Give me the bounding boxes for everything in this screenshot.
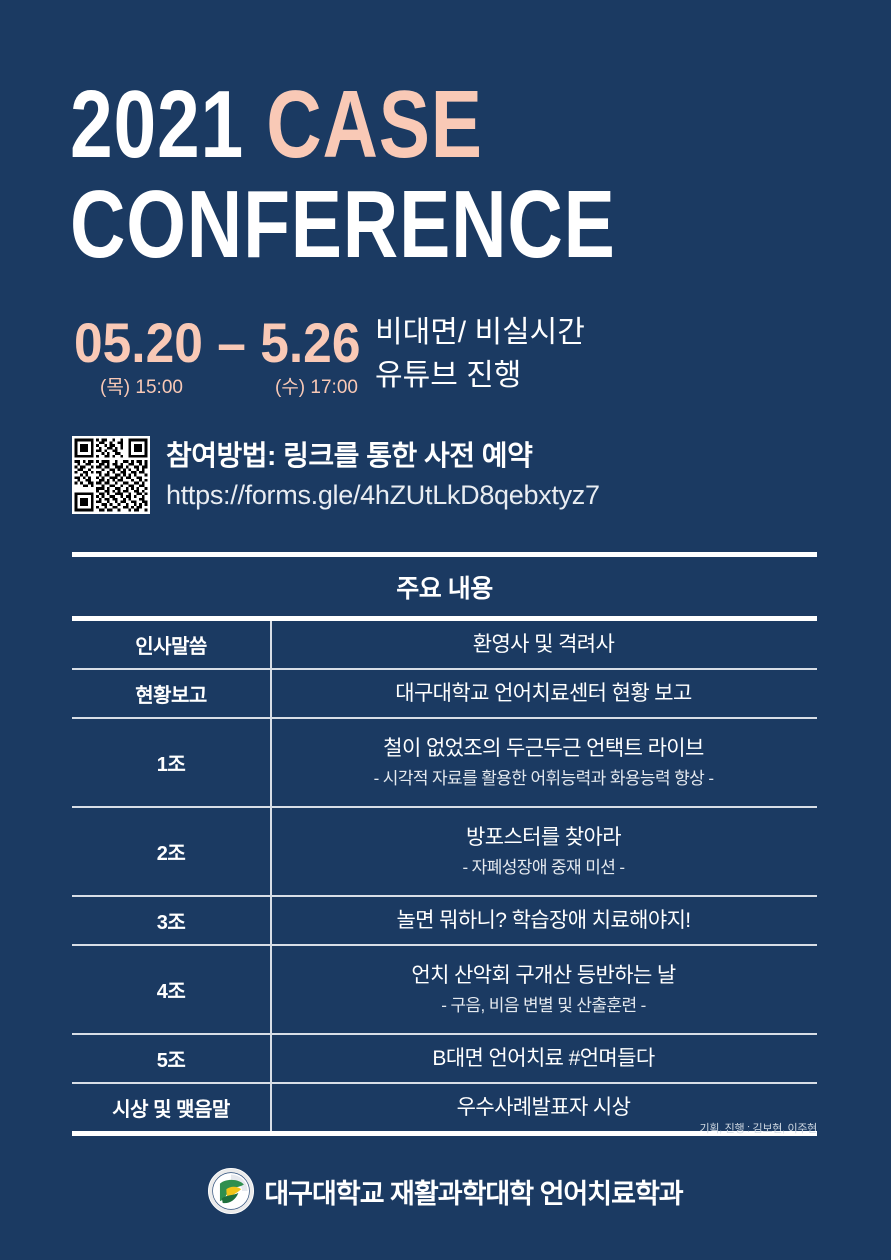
footer: 대구대학교 재활과학대학 언어치료학과: [0, 1168, 891, 1214]
credit-line: 기획, 진행 : 김보현, 이주현: [0, 1120, 817, 1136]
row-content: B대면 언어치료 #언며들다: [270, 1035, 817, 1082]
row-label: 현황보고: [72, 670, 270, 717]
row-main-text: 언치 산악회 구개산 등반하는 날: [411, 962, 675, 989]
row-label: 인사말씀: [72, 621, 270, 668]
row-label: 3조: [72, 897, 270, 944]
row-main-text: 우수사례발표자 시상: [457, 1094, 631, 1121]
title-year: 2021: [70, 71, 266, 178]
row-main-text: B대면 언어치료 #언며들다: [432, 1045, 654, 1072]
row-label: 5조: [72, 1035, 270, 1082]
title-case: CASE: [266, 71, 483, 178]
row-label: 4조: [72, 946, 270, 1033]
mode-line-2: 유튜브 진행: [375, 355, 585, 398]
delivery-mode: 비대면/ 비실시간 유튜브 진행: [375, 312, 585, 397]
mode-line-1: 비대면/ 비실시간: [375, 312, 585, 355]
row-main-text: 대구대학교 언어치료센터 현황 보고: [395, 680, 692, 707]
row-main-text: 환영사 및 격려사: [473, 631, 615, 658]
registration-url[interactable]: https://forms.gle/4hZUtLkD8qebxtyz7: [166, 480, 600, 511]
row-sub-text: - 구음, 비음 변별 및 산출훈련 -: [441, 995, 645, 1017]
row-label: 2조: [72, 808, 270, 895]
table-row: 인사말씀 환영사 및 격려사: [72, 621, 817, 668]
title-line-2: CONFERENCE: [70, 178, 678, 272]
table-row: 1조 철이 없었조의 두근두근 언택트 라이브 - 시각적 자료를 활용한 어휘…: [72, 719, 817, 806]
column-divider: [270, 808, 272, 895]
footer-organization: 대구대학교 재활과학대학 언어치료학과: [264, 1172, 682, 1211]
column-divider: [270, 897, 272, 944]
row-content: 환영사 및 격려사: [270, 621, 817, 668]
participation-headline: 참여방법: 링크를 통한 사전 예약: [166, 434, 600, 474]
column-divider: [270, 946, 272, 1033]
table-row: 3조 놀면 뭐하니? 학습장애 치료해야지!: [72, 897, 817, 944]
table-row: 4조 언치 산악회 구개산 등반하는 날 - 구음, 비음 변별 및 산출훈련 …: [72, 946, 817, 1033]
table-row: 2조 방포스터를 찾아라 - 자폐성장애 중재 미션 -: [72, 808, 817, 895]
row-content: 방포스터를 찾아라 - 자폐성장애 중재 미션 -: [270, 808, 817, 895]
row-label: 1조: [72, 719, 270, 806]
table-title: 주요 내용: [72, 557, 817, 616]
title-line-1: 2021 CASE: [70, 78, 678, 172]
participation-section: 참여방법: 링크를 통한 사전 예약 https://forms.gle/4hZ…: [70, 432, 850, 524]
row-main-text: 철이 없었조의 두근두근 언택트 라이브: [383, 735, 703, 762]
row-content: 대구대학교 언어치료센터 현황 보고: [270, 670, 817, 717]
row-main-text: 방포스터를 찾아라: [466, 824, 621, 851]
schedule-table: 주요 내용 인사말씀 환영사 및 격려사 현황보고 대구대학교 언어치료센터 현…: [72, 552, 817, 1136]
poster-canvas: 2021 CASE CONFERENCE 05.20 – 5.26 (목) 15…: [0, 0, 891, 1260]
date-section: 05.20 – 5.26 (목) 15:00 (수) 17:00 비대면/ 비실…: [70, 310, 850, 420]
column-divider: [270, 621, 272, 668]
column-divider: [270, 1035, 272, 1082]
participation-texts: 참여방법: 링크를 통한 사전 예약 https://forms.gle/4hZ…: [166, 434, 600, 511]
table-row: 현황보고 대구대학교 언어치료센터 현황 보고: [72, 670, 817, 717]
row-sub-text: - 자폐성장애 중재 미션 -: [463, 857, 625, 879]
daegu-university-logo-icon: [208, 1168, 254, 1214]
row-main-text: 놀면 뭐하니? 학습장애 치료해야지!: [396, 907, 690, 934]
row-content: 놀면 뭐하니? 학습장애 치료해야지!: [270, 897, 817, 944]
start-time: (목) 15:00: [100, 372, 183, 399]
row-content: 언치 산악회 구개산 등반하는 날 - 구음, 비음 변별 및 산출훈련 -: [270, 946, 817, 1033]
date-range: 05.20 – 5.26: [74, 310, 360, 375]
end-time: (수) 17:00: [275, 372, 358, 399]
column-divider: [270, 719, 272, 806]
table-row: 5조 B대면 언어치료 #언며들다: [72, 1035, 817, 1082]
poster-title: 2021 CASE CONFERENCE: [70, 78, 830, 272]
qr-code-icon[interactable]: [72, 436, 150, 514]
column-divider: [270, 670, 272, 717]
row-content: 철이 없었조의 두근두근 언택트 라이브 - 시각적 자료를 활용한 어휘능력과…: [270, 719, 817, 806]
row-sub-text: - 시각적 자료를 활용한 어휘능력과 화용능력 향상 -: [374, 768, 714, 790]
